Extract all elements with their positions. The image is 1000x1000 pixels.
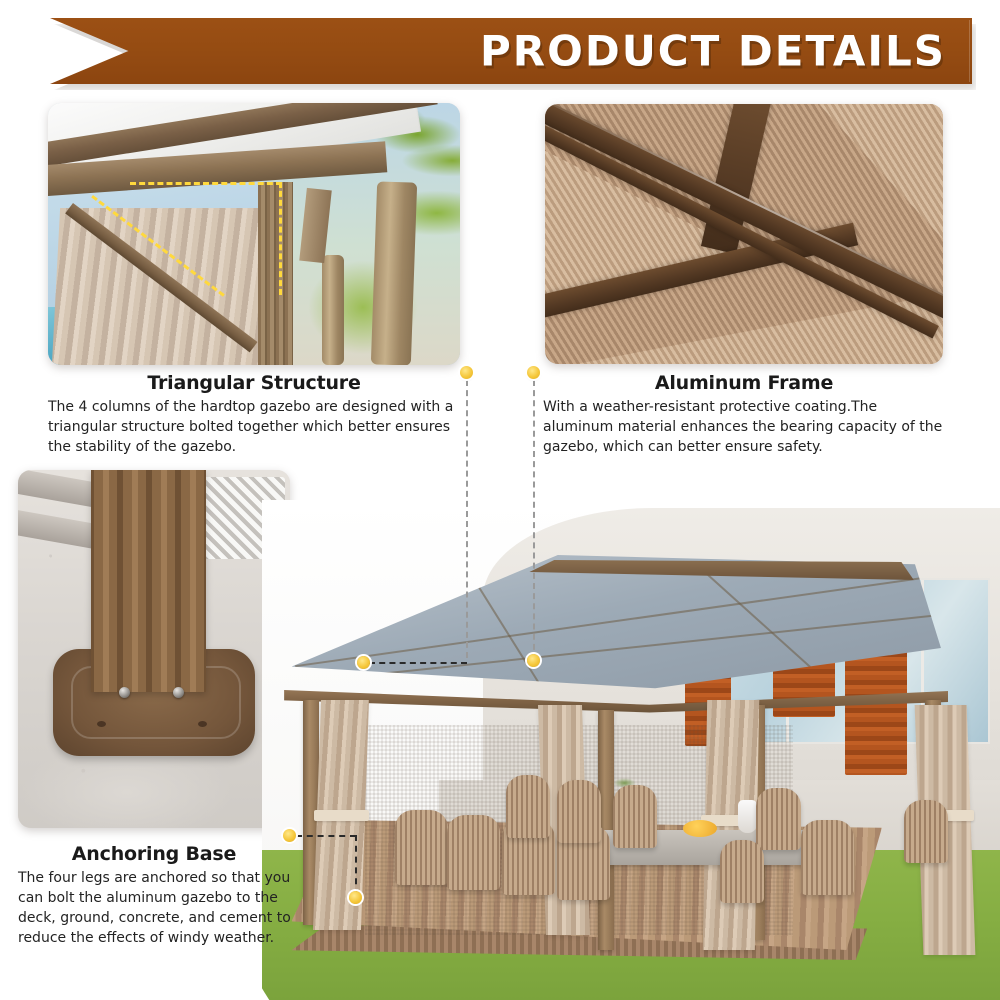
callout-line-aluminum-frame	[533, 380, 535, 660]
curtain-tieback	[314, 810, 369, 821]
callout-dot-aluminum-frame-top	[527, 366, 540, 379]
palm-trunk	[371, 181, 417, 365]
triangular-structure-image	[48, 103, 460, 365]
section-body-aluminum-frame: With a weather-resistant protective coat…	[543, 398, 945, 458]
palm-trunk-secondary	[322, 255, 344, 365]
callout-dot-anchoring-base-origin	[283, 829, 296, 842]
lounge-seat	[904, 800, 948, 863]
hero-gazebo-image	[262, 500, 1000, 1000]
callout-line-triangular-structure-horizontal	[369, 662, 467, 664]
table-vase	[738, 800, 757, 833]
anchoring-base-image	[18, 470, 290, 828]
callout-dot-triangular-structure-top	[460, 366, 473, 379]
dining-chair	[395, 810, 448, 885]
callout-line-triangular-structure	[466, 380, 468, 658]
section-body-triangular-structure: The 4 columns of the hardtop gazebo are …	[48, 398, 462, 458]
callout-dot-anchoring-base-target	[349, 891, 362, 904]
dining-chair	[801, 820, 854, 895]
anchor-bolt	[119, 687, 130, 698]
callout-line-anchoring-base-horizontal	[296, 835, 356, 837]
triangle-highlight-icon	[130, 182, 281, 295]
fruit-bowl	[683, 820, 717, 837]
callout-dot-aluminum-frame-target	[527, 654, 540, 667]
dining-chair-near	[720, 840, 764, 903]
section-title-anchoring-base: Anchoring Base	[18, 843, 290, 865]
anchor-hole	[198, 721, 207, 727]
dining-chair-far	[756, 788, 800, 851]
product-details-infographic: PRODUCT DETAILS	[0, 0, 1000, 1000]
callout-dot-triangular-structure-target	[357, 656, 370, 669]
fluted-aluminum-post	[91, 470, 205, 692]
dining-chair-far	[613, 785, 657, 848]
anchor-bolt	[173, 687, 184, 698]
dining-chair-far	[557, 780, 601, 843]
dining-chair-far	[506, 775, 550, 838]
page-title: PRODUCT DETAILS	[480, 27, 946, 76]
dining-chair	[447, 815, 500, 890]
aluminum-frame-image	[545, 104, 943, 364]
callout-line-anchoring-base-vertical	[355, 835, 357, 895]
anchor-hole	[97, 721, 106, 727]
section-title-triangular-structure: Triangular Structure	[48, 372, 460, 394]
section-body-anchoring-base: The four legs are anchored so that you c…	[18, 869, 294, 949]
house-wood-cladding	[845, 647, 907, 775]
header-banner: PRODUCT DETAILS	[50, 18, 972, 84]
section-title-aluminum-frame: Aluminum Frame	[545, 372, 943, 394]
